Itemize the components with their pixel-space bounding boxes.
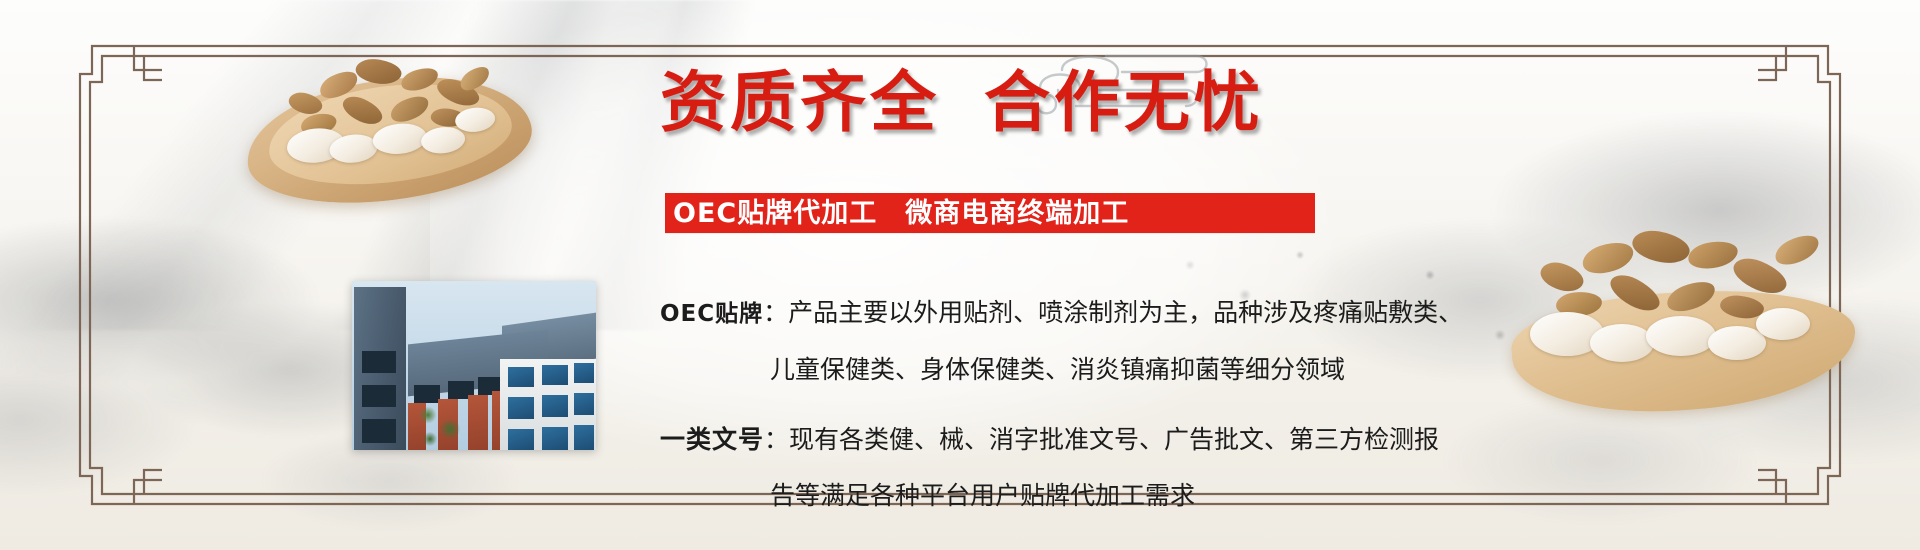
- body-text: OEC贴牌：产品主要以外用贴剂、喷涂制剂为主，品种涉及疼痛贴敷类、 儿童保健类、…: [660, 285, 1400, 538]
- paragraph-docnum-text-1: 现有各类健、械、消字批准文号、广告批文、第三方检测报: [789, 425, 1439, 454]
- paragraph-docnum-line-1: 一类文号：现有各类健、械、消字批准文号、广告批文、第三方检测报: [660, 412, 1400, 468]
- paragraph-docnum: 一类文号：现有各类健、械、消字批准文号、广告批文、第三方检测报 告等满足各种平台…: [660, 412, 1400, 524]
- page-title: 资质齐全合作无忧: [660, 70, 1264, 136]
- paragraph-oec-label: OEC贴牌: [660, 301, 763, 327]
- paragraph-oec-line-1: OEC贴牌：产品主要以外用贴剂、喷涂制剂为主，品种涉及疼痛贴敷类、: [660, 285, 1400, 342]
- headline-part-2: 合作无忧: [984, 64, 1264, 141]
- subtitle-part-2: 微商电商终端加工: [905, 198, 1129, 229]
- herb-bowl-photo: [228, 22, 548, 207]
- paragraph-docnum-label: 一类文号: [660, 425, 764, 454]
- building-greenery: [412, 399, 470, 450]
- paragraph-oec-text-1: 产品主要以外用贴剂、喷涂制剂为主，品种涉及疼痛贴敷类、: [788, 298, 1463, 327]
- paragraph-oec-line-2: 儿童保健类、身体保健类、消炎镇痛抑菌等细分领域: [660, 342, 1400, 398]
- factory-building-photo: [352, 281, 596, 450]
- subtitle-part-1: OEC贴牌代加工: [673, 198, 877, 229]
- promo-banner: 资质齐全合作无忧 OEC贴牌代加工微商电商终端加工: [0, 0, 1920, 550]
- herb-tray-photo: [1502, 218, 1862, 418]
- herb-tray-pile: [1516, 218, 1846, 358]
- headline-part-1: 资质齐全: [660, 64, 940, 141]
- paragraph-docnum-line-2: 告等满足各种平台用户贴牌代加工需求: [660, 468, 1400, 524]
- subtitle-bar: OEC贴牌代加工微商电商终端加工: [665, 193, 1315, 233]
- paragraph-oec: OEC贴牌：产品主要以外用贴剂、喷涂制剂为主，品种涉及疼痛贴敷类、 儿童保健类、…: [660, 285, 1400, 398]
- paragraph-oec-separator: ：: [763, 298, 788, 327]
- paragraph-docnum-separator: ：: [764, 425, 789, 454]
